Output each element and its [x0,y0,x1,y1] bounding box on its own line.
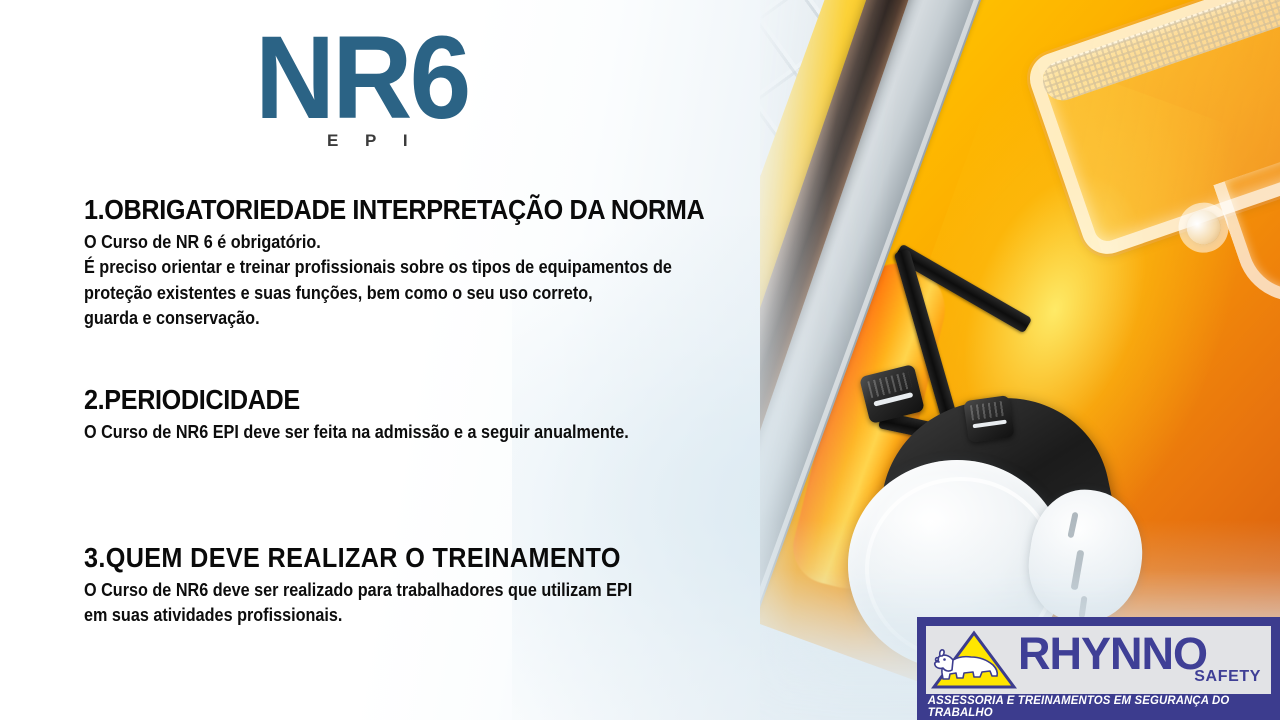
section-obrigatoriedade: 1.OBRIGATORIEDADE INTERPRETAÇÃO DA NORMA… [84,196,773,332]
buckle-ridges [969,401,1006,421]
strap-buckle [963,395,1014,443]
logo-wordmark-wrap: RHYNNO SAFETY [1018,626,1271,694]
section-periodicidade: 2.PERIODICIDADE O Curso de NR6 EPI deve … [84,386,689,445]
section-body: O Curso de NR6 EPI deve ser feita na adm… [84,420,629,446]
logo-panel: RHYNNO SAFETY [926,626,1271,694]
section-body: O Curso de NR6 deve ser realizado para t… [84,578,632,629]
rhynno-safety-logo: RHYNNO SAFETY ASSESSORIA E TREINAMENTOS … [917,617,1280,720]
rhino-in-triangle-icon [930,629,1018,691]
logo-safety-text: SAFETY [1018,669,1271,685]
buckle-ridges [867,371,912,398]
section-body: O Curso de NR 6 é obrigatório. É preciso… [84,230,704,332]
section-heading: 2.PERIODICIDADE [84,386,629,415]
section-quem-deve-realizar: 3.QUEM DEVE REALIZAR O TREINAMENTO O Cur… [84,544,693,629]
ppe-photo [760,0,1280,720]
section-heading: 3.QUEM DEVE REALIZAR O TREINAMENTO [84,544,632,573]
title-block: NR6 E P I [255,22,775,151]
page-title: NR6 [255,22,744,135]
strap-buckle [859,364,925,424]
slide-canvas: NR6 E P I 1.OBRIGATORIEDADE INTERPRETAÇÃ… [0,0,1280,720]
logo-tagline: ASSESSORIA E TREINAMENTOS EM SEGURANÇA D… [928,694,1270,720]
ppe-photo-inner [760,0,1280,720]
section-heading: 1.OBRIGATORIEDADE INTERPRETAÇÃO DA NORMA [84,196,704,225]
